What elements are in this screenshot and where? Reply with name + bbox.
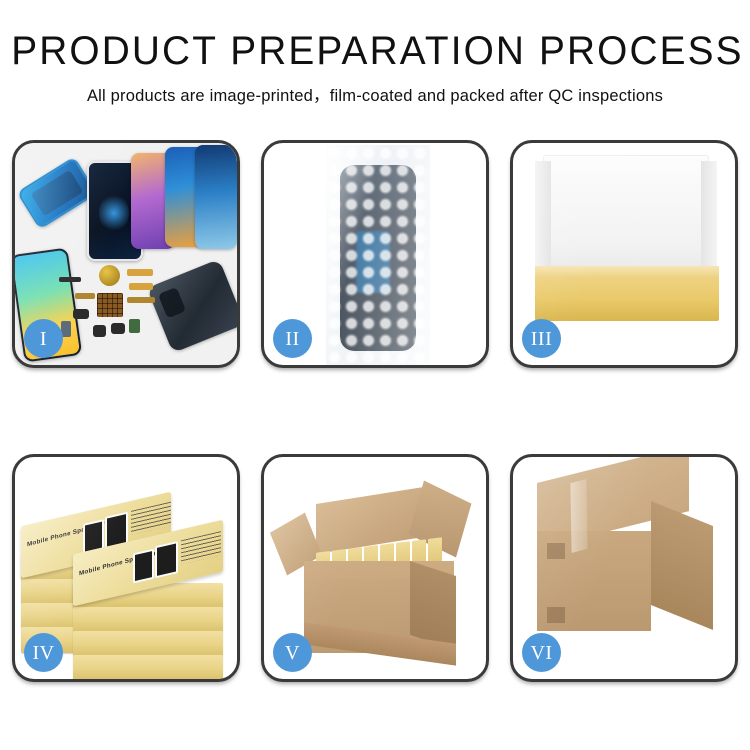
sealed-carton-side: [651, 501, 713, 630]
box-spec-text: [181, 531, 221, 564]
step-panel-1: I: [12, 140, 240, 368]
header: PRODUCT PREPARATION PROCESS All products…: [0, 0, 750, 106]
step-badge-4: IV: [24, 633, 63, 672]
flex-cable-a: [127, 269, 153, 276]
carton-side-panel: [410, 561, 456, 650]
step-badge-1: I: [24, 319, 63, 358]
carton-tab-lower: [547, 607, 565, 623]
bubble-wrap-pack: [326, 145, 430, 365]
process-steps-grid: I II: [12, 140, 738, 682]
connector-chip: [97, 293, 123, 317]
box-art-screen: [155, 541, 178, 578]
carton-tab-upper: [547, 543, 565, 559]
flex-cable-d: [127, 297, 155, 303]
plastic-sheen: [326, 145, 430, 365]
flex-cable-c: [75, 293, 95, 299]
phone-housing-back: [147, 259, 237, 353]
adhesive-frame-part: [17, 156, 98, 229]
step-panel-6: VI: [510, 454, 738, 682]
step-panel-3: III: [510, 140, 738, 368]
flex-cable-b: [129, 283, 153, 290]
step-badge-2: II: [273, 319, 312, 358]
phone-display-gradient: [195, 145, 237, 249]
mailer-box-lid: [543, 155, 709, 283]
box-art-screen: [133, 549, 154, 584]
small-part-e: [129, 319, 140, 333]
box-spec-text: [131, 502, 171, 535]
small-part-c: [93, 325, 106, 337]
step-badge-5: V: [273, 633, 312, 672]
step-panel-2: II: [261, 140, 489, 368]
packing-tape: [570, 479, 587, 553]
retail-box: [73, 607, 223, 633]
small-part-a: [59, 277, 81, 282]
small-part-b: [73, 309, 89, 319]
retail-box: [73, 655, 223, 679]
retail-box: [73, 631, 223, 657]
step-panel-5: V: [261, 454, 489, 682]
speaker-component: [99, 265, 120, 286]
small-part-d: [111, 323, 125, 334]
product-preparation-infographic: PRODUCT PREPARATION PROCESS All products…: [0, 0, 750, 750]
step-panel-4: Mobile Phone Spare Parts Mobile Phone Sp…: [12, 454, 240, 682]
step-badge-6: VI: [522, 633, 561, 672]
mailer-box-base: [535, 273, 719, 321]
page-title: PRODUCT PREPARATION PROCESS: [11, 30, 739, 73]
step-badge-3: III: [522, 319, 561, 358]
page-subtitle: All products are image-printed，film-coat…: [0, 82, 750, 106]
